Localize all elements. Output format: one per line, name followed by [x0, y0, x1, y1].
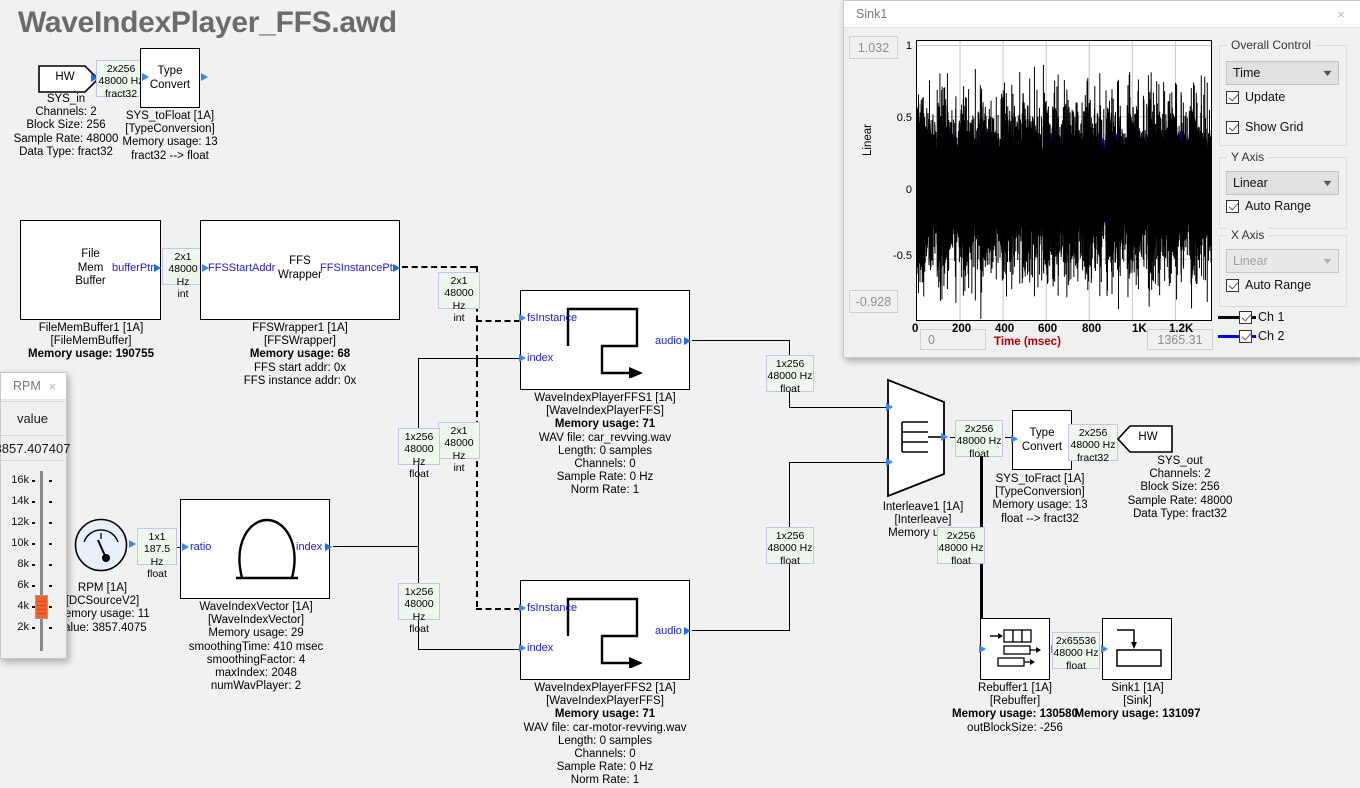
- rpm-value-readout[interactable]: 3857.407407: [1, 436, 64, 461]
- x-tick-4: 800: [1082, 323, 1101, 335]
- x-auto-range-row[interactable]: Auto Range: [1226, 278, 1311, 292]
- close-icon[interactable]: ×: [1324, 2, 1358, 27]
- rpm-tick-dot-r2: [49, 522, 52, 524]
- player2-caption: WaveIndexPlayerFFS2 [1A] [WaveIndexPlaye…: [515, 682, 695, 788]
- update-checkbox[interactable]: [1226, 91, 1239, 104]
- y-axis-caption: Y Axis: [1227, 150, 1268, 164]
- x-tick-1: 200: [952, 323, 971, 335]
- x-tick-labels: 0 200 400 600 800 1K 1.2K: [916, 323, 1212, 337]
- rpm-tick-5: 6k: [3, 579, 29, 591]
- tag-rebuffer-out: 2x65536 48000 Hz float: [1052, 632, 1100, 669]
- waveindexvector-port-index: index: [296, 541, 322, 553]
- sink-in-arrow: [1101, 645, 1108, 653]
- sys-tofloat-inner-label: Type Convert: [140, 65, 200, 92]
- waveindexvector-port-ratio: ratio: [190, 541, 211, 553]
- rpm-tick-dot-r4: [49, 564, 52, 566]
- page-title: WaveIndexPlayer_FFS.awd: [18, 6, 397, 40]
- wire-p1-audio-to-il: [789, 407, 891, 408]
- sys-tofloat-caption: SYS_toFloat [1A] [TypeConversion] Memory…: [100, 110, 240, 163]
- overall-control-select-value: Time: [1233, 66, 1260, 80]
- y-min-readout[interactable]: -0.928: [849, 290, 898, 313]
- chevron-down-icon: ▼: [1321, 256, 1334, 266]
- rpm-slider-track[interactable]: [40, 471, 43, 651]
- player1-in-index-arrow: [519, 354, 526, 362]
- x-auto-range-checkbox[interactable]: [1226, 279, 1239, 292]
- update-checkbox-row[interactable]: Update: [1226, 90, 1285, 104]
- x-tick-2: 400: [995, 323, 1014, 335]
- tag-audio-bottom: 1x256 48000 Hz float: [766, 527, 814, 564]
- sys-in-inner-label: HW: [38, 71, 92, 83]
- interleave-in-2-arrow: [886, 458, 893, 466]
- overall-control-select[interactable]: Time ▼: [1226, 61, 1339, 85]
- y-auto-range-label: Auto Range: [1245, 199, 1311, 213]
- player1-port-index: index: [527, 352, 553, 364]
- rpm-tick-dot-2: [32, 522, 35, 524]
- rpm-tick-dot-r6: [49, 606, 52, 608]
- player2-port-audio: audio: [655, 625, 682, 637]
- rpm-tick-dot-3: [32, 543, 35, 545]
- sys-tofract-in-arrow: [1011, 435, 1018, 443]
- sink-window[interactable]: Sink1 × 1.032 -0.928 0 1365.31 Linear 1 …: [843, 0, 1360, 358]
- x-tick-5: 1K: [1132, 323, 1147, 335]
- rpm-gauge-icon[interactable]: [74, 518, 128, 572]
- rpm-tick-dot-r7: [49, 627, 52, 629]
- x-tick-6: 1.2K: [1169, 323, 1193, 335]
- y-tick-2: 0: [890, 184, 912, 196]
- rpm-window-title: RPM: [13, 379, 41, 393]
- y-axis-label: Linear: [862, 124, 874, 156]
- sys-tofloat-out-arrow: [201, 73, 208, 81]
- interleave-out-arrow: [941, 433, 948, 441]
- wire-index-to-p2: [418, 649, 522, 650]
- rpm-tick-dot-r0: [49, 480, 52, 482]
- tag-interleave-out: 2x256 48000 Hz float: [955, 420, 1003, 457]
- sys-tofract-caption: SYS_toFract [1A] [TypeConversion] Memory…: [975, 473, 1105, 526]
- rpm-tick-dot-0: [32, 480, 35, 482]
- filemembuffer-caption: FileMemBuffer1 [1A] [FileMemBuffer] Memo…: [0, 322, 182, 362]
- rebuffer-icon: [990, 628, 1046, 670]
- rpm-tick-1: 14k: [3, 495, 29, 507]
- rpm-tick-dot-5: [32, 585, 35, 587]
- rpm-tick-dot-7: [32, 627, 35, 629]
- rpm-tick-dot-1: [32, 501, 35, 503]
- rpm-tick-0: 16k: [3, 474, 29, 486]
- rpm-tick-3: 10k: [3, 537, 29, 549]
- sys-out-caption: SYS_out Channels: 2 Block Size: 256 Samp…: [1090, 455, 1270, 521]
- y-auto-range-row[interactable]: Auto Range: [1226, 199, 1311, 213]
- ffswrapper-caption: FFSWrapper1 [1A] [FFSWrapper] Memory usa…: [210, 322, 390, 388]
- y-axis-select-value: Linear: [1233, 176, 1268, 190]
- wire-ffs-dash-3: [476, 320, 520, 322]
- player2-in-index-arrow: [519, 644, 526, 652]
- chevron-down-icon: ▼: [1321, 68, 1334, 78]
- rpm-tick-2: 12k: [3, 516, 29, 528]
- show-grid-checkbox-row[interactable]: Show Grid: [1226, 120, 1303, 134]
- player2-port-index: index: [527, 642, 553, 654]
- rpm-column-header: value: [1, 401, 64, 436]
- ch2-label: Ch 2: [1258, 329, 1284, 343]
- sink-icon: [1112, 628, 1166, 670]
- waveform-plot[interactable]: [916, 40, 1212, 321]
- ch1-row[interactable]: Ch 1: [1239, 310, 1284, 324]
- wire-p2-audio-to-il: [789, 462, 891, 463]
- sys-tofract-inner-label: Type Convert: [1012, 427, 1072, 454]
- ffswrapper-out-arrow: [393, 264, 400, 272]
- wire-index-out: [333, 546, 419, 547]
- rpm-tick-6: 4k: [3, 600, 29, 612]
- wire-p2-audio: [692, 630, 790, 631]
- player1-in-fsinstance-arrow: [519, 314, 526, 322]
- rpm-window-titlebar[interactable]: RPM ×: [1, 373, 66, 400]
- tag-index-top: 1x256 48000 Hz float: [398, 428, 440, 465]
- waveindexvector-caption: WaveIndexVector [1A] [WaveIndexVector] M…: [170, 601, 342, 693]
- rpm-tick-dot-r3: [49, 543, 52, 545]
- show-grid-label: Show Grid: [1245, 120, 1303, 134]
- sys-out-inner-label: HW: [1124, 431, 1172, 443]
- tag-ffsptr-top: 2x1 48000 Hz int: [438, 272, 480, 309]
- rpm-tick-dot-r5: [49, 585, 52, 587]
- filemembuffer-out-arrow: [154, 264, 161, 272]
- player1-port-fsinstance: fsInstance: [527, 312, 577, 324]
- tag-audio-top: 1x256 48000 Hz float: [766, 355, 814, 392]
- tag-bufferptr: 2x1 48000 Hz int: [162, 248, 204, 285]
- ch2-row[interactable]: Ch 2: [1239, 329, 1284, 343]
- y-axis-select[interactable]: Linear ▼: [1226, 171, 1339, 195]
- rebuffer-caption: Rebuffer1 [1A] [Rebuffer] Memory usage: …: [950, 682, 1080, 735]
- x-axis-caption: X Axis: [1227, 228, 1268, 242]
- close-icon[interactable]: ×: [41, 374, 64, 399]
- player1-out-arrow: [684, 337, 691, 345]
- schematic-canvas: WaveIndexPlayer_FFS.awd HW 2x256 48000 H…: [0, 0, 1360, 786]
- tag-ffsptr-bottom: 2x1 48000 Hz int: [438, 422, 480, 459]
- tag-index-bottom: 1x256 48000 Hz float: [398, 583, 440, 620]
- player2-port-fsinstance: fsInstance: [527, 602, 577, 614]
- y-tick-3: -0.5: [886, 250, 912, 262]
- ch1-label: Ch 1: [1258, 310, 1284, 324]
- tag-interleave-out-2: 2x256 48000 Hz float: [937, 527, 985, 564]
- wire-index-to-p1: [418, 358, 522, 359]
- tag-rpm-out: 1x1 187.5 Hz float: [137, 528, 177, 565]
- player1-caption: WaveIndexPlayerFFS1 [1A] [WaveIndexPlaye…: [515, 392, 695, 498]
- wire-ffs-dash-5: [476, 608, 520, 610]
- update-label: Update: [1245, 90, 1285, 104]
- sink-window-titlebar[interactable]: Sink1 ×: [844, 1, 1360, 28]
- tag-sys-in-out: 2x256 48000 Hz fract32: [96, 60, 146, 97]
- wire-ffs-dash-1: [402, 266, 476, 268]
- sys-tofloat-in-arrow: [142, 73, 149, 81]
- player1-port-audio: audio: [655, 335, 682, 347]
- wire-p1-audio: [692, 340, 790, 341]
- interleave-in-1-arrow: [886, 403, 893, 411]
- rpm-tick-4: 8k: [3, 558, 29, 570]
- overall-control-caption: Overall Control: [1227, 38, 1315, 52]
- y-tick-1: 0.5: [890, 112, 912, 124]
- y-auto-range-checkbox[interactable]: [1226, 200, 1239, 213]
- rpm-tick-dot-6: [32, 606, 35, 608]
- ffswrapper-port-instance: FFSInstancePtr: [320, 262, 396, 274]
- rpm-window[interactable]: RPM × value 3857.407407 16k 14k 12k 10k …: [0, 372, 67, 659]
- rpm-tick-dot-4: [32, 564, 35, 566]
- x-auto-range-label: Auto Range: [1245, 278, 1311, 292]
- ch2-checkbox[interactable]: [1239, 330, 1252, 343]
- player2-in-fsinstance-arrow: [519, 604, 526, 612]
- x-axis-label: Time (msec): [994, 336, 1061, 348]
- rpm-tick-7: 2k: [3, 621, 29, 633]
- waveindexvector-out-arrow: [325, 543, 332, 551]
- rpm-slider-thumb[interactable]: [35, 595, 48, 619]
- ffswrapper-port-start: FFSStartAddr: [208, 262, 275, 274]
- y-tick-0: 1: [890, 40, 912, 52]
- x-tick-3: 600: [1038, 323, 1057, 335]
- x-axis-select[interactable]: Linear ▼: [1226, 249, 1339, 273]
- x-axis-select-value: Linear: [1233, 254, 1268, 268]
- rebuffer-in-arrow: [979, 645, 986, 653]
- rpm-tick-dot-r1: [49, 501, 52, 503]
- player2-out-arrow: [684, 627, 691, 635]
- x-tick-0: 0: [912, 323, 918, 335]
- filemembuffer-port-bufferptr: bufferPtr: [112, 262, 154, 274]
- sink-window-title: Sink1: [856, 7, 887, 21]
- sink-caption: Sink1 [1A] [Sink] Memory usage: 131097: [1070, 682, 1205, 722]
- waveindexvector-in-arrow: [182, 543, 189, 551]
- rpm-out-arrow: [129, 540, 136, 548]
- chevron-down-icon: ▼: [1321, 178, 1334, 188]
- show-grid-checkbox[interactable]: [1226, 121, 1239, 134]
- ch1-checkbox[interactable]: [1239, 311, 1252, 324]
- waveindexvector-icon: [228, 512, 306, 586]
- wire-ffs-dash-4: [476, 361, 478, 607]
